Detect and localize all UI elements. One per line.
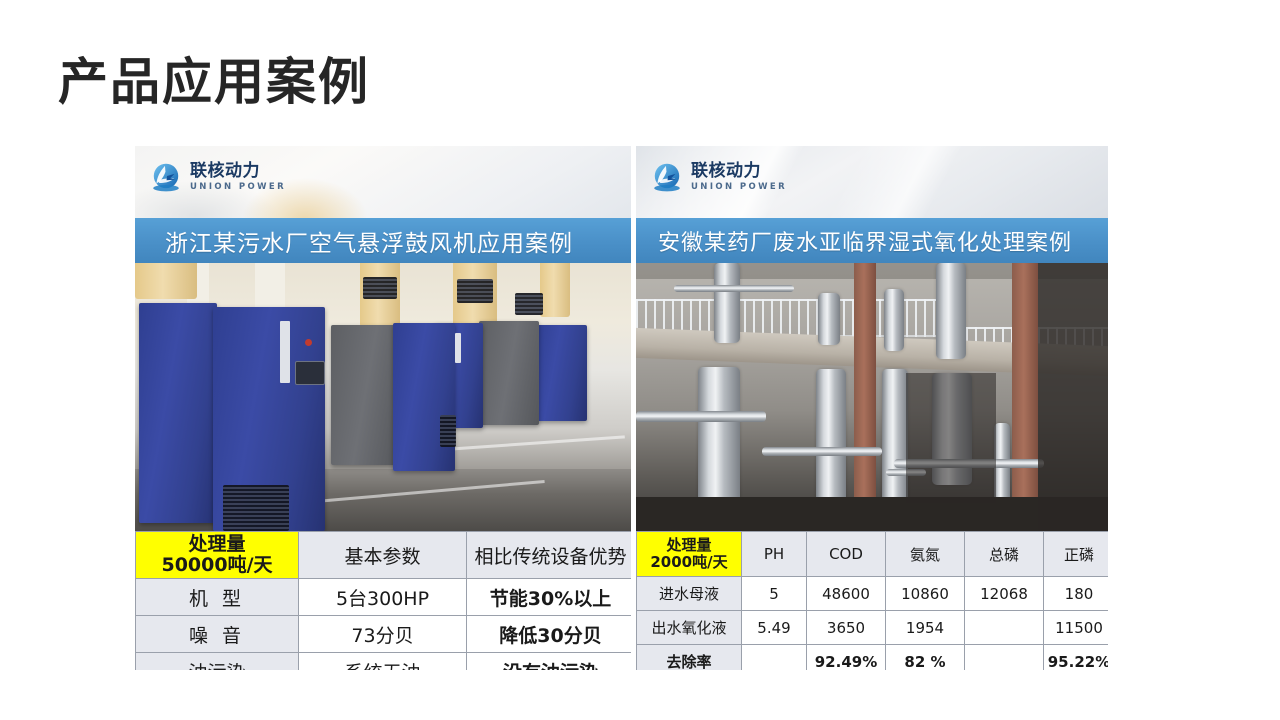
reactor-column <box>816 369 846 509</box>
table-cell-removal-rate <box>965 645 1044 671</box>
table-cell-value: 180 <box>1044 577 1109 611</box>
table-column-header: 总磷 <box>965 532 1044 577</box>
table-cell-value: 5 <box>742 577 807 611</box>
table-cell-advantage: 没有油污染 <box>467 653 632 671</box>
process-pipe <box>636 411 766 422</box>
table-row: 去除率 92.49% 82 % 95.22% <box>637 645 1109 671</box>
table-cell-value: 系统无油 <box>299 653 467 671</box>
table-cell-removal-rate: 82 % <box>886 645 965 671</box>
duct-vent <box>457 279 493 303</box>
table-row: 机 型 5台300HP 节能30%以上 <box>136 579 632 616</box>
structural-column <box>1012 263 1038 531</box>
blower-unit-front-side <box>139 303 217 523</box>
table-cell-value: 73分贝 <box>299 616 467 653</box>
table-row: 进水母液 5 48600 10860 12068 180 <box>637 577 1109 611</box>
blower-control-panel <box>295 361 325 385</box>
table-column-header: 相比传统设备优势 <box>467 532 632 579</box>
table-row-label: 去除率 <box>637 645 742 671</box>
table-corner-cell: 处理量 2000吨/天 <box>637 532 742 577</box>
table-header-row: 处理量 50000吨/天 基本参数 相比传统设备优势 <box>136 532 632 579</box>
ceiling-duct <box>540 263 570 317</box>
reactor-column <box>698 367 740 517</box>
case-photo-right: 联核动力 UNION POWER 安徽某药厂废水亚临界湿式氧化处理案例 <box>636 146 1108 531</box>
page-title: 产品应用案例 <box>58 55 370 110</box>
case-panel-left: 联核动力 UNION POWER 浙江某污水厂空气悬浮鼓风机应用案例 <box>135 146 631 670</box>
table-row-label: 油污染 <box>136 653 299 671</box>
process-column <box>936 263 966 359</box>
slide-root: 产品应用案例 联核动力 <box>0 0 1280 720</box>
table-row-label: 噪 音 <box>136 616 299 653</box>
blower-front-grille <box>223 485 289 531</box>
case-banner-right: 安徽某药厂废水亚临界湿式氧化处理案例 <box>636 218 1108 263</box>
case-table-right: 处理量 2000吨/天 PH COD 氨氮 总磷 正磷 进水母液 5 48600… <box>636 531 1108 670</box>
table-cell-value: 3650 <box>807 611 886 645</box>
table-row: 油污染 系统无油 没有油污染 <box>136 653 632 671</box>
corner-line-1: 处理量 <box>637 537 741 554</box>
blower-unit-mid <box>331 325 399 465</box>
table-row: 出水氧化液 5.49 3650 1954 11500 <box>637 611 1109 645</box>
brand-logo-right: 联核动力 UNION POWER <box>650 160 787 194</box>
case-photo-body-left <box>135 263 631 531</box>
blower-vent <box>440 415 456 447</box>
union-power-logo-icon <box>650 160 684 194</box>
corner-line-2: 2000吨/天 <box>637 554 741 571</box>
brand-logo-text-right: 联核动力 UNION POWER <box>691 163 787 192</box>
process-column <box>884 289 904 351</box>
interior-shadow <box>1038 263 1108 531</box>
case-table-left: 处理量 50000吨/天 基本参数 相比传统设备优势 机 型 5台300HP 节… <box>135 531 631 670</box>
plant-room-scene <box>135 263 631 531</box>
table-column-header: 氨氮 <box>886 532 965 577</box>
table-cell-value <box>742 645 807 671</box>
blower-indicator-light <box>305 339 312 346</box>
table-cell-advantage: 降低30分贝 <box>467 616 632 653</box>
brand-name-cn: 联核动力 <box>190 163 286 180</box>
structural-column <box>854 263 876 531</box>
table-row-label: 机 型 <box>136 579 299 616</box>
floor-highlight <box>435 435 625 451</box>
table-corner-cell: 处理量 50000吨/天 <box>136 532 299 579</box>
table-cell-value: 12068 <box>965 577 1044 611</box>
duct-vent <box>363 277 397 299</box>
ceiling-duct <box>135 263 197 299</box>
corner-line-2: 50000吨/天 <box>136 555 298 576</box>
table-cell-value <box>965 611 1044 645</box>
table-cell-advantage: 节能30%以上 <box>467 579 632 616</box>
case-banner-left: 浙江某污水厂空气悬浮鼓风机应用案例 <box>135 218 631 263</box>
process-pipe <box>674 285 794 292</box>
table-cell-value: 1954 <box>886 611 965 645</box>
blower-label-strip <box>280 321 290 383</box>
interior-shadow <box>906 373 996 503</box>
table-cell-value: 10860 <box>886 577 965 611</box>
brand-logo-left: 联核动力 UNION POWER <box>149 160 286 194</box>
case-panel-right: 联核动力 UNION POWER 安徽某药厂废水亚临界湿式氧化处理案例 <box>636 146 1108 670</box>
table-cell-value: 48600 <box>807 577 886 611</box>
table-header-row: 处理量 2000吨/天 PH COD 氨氮 总磷 正磷 <box>637 532 1109 577</box>
union-power-logo-icon <box>149 160 183 194</box>
table-column-header: COD <box>807 532 886 577</box>
table-column-header: 基本参数 <box>299 532 467 579</box>
process-column <box>714 263 740 343</box>
table-cell-removal-rate: 95.22% <box>1044 645 1109 671</box>
blower-label-strip <box>455 333 461 363</box>
blower-unit-far <box>535 325 587 421</box>
oxidation-plant-scene <box>636 263 1108 531</box>
brand-name-en: UNION POWER <box>190 183 286 192</box>
table-cell-value: 5.49 <box>742 611 807 645</box>
brand-name-en: UNION POWER <box>691 183 787 192</box>
table-cell-removal-rate: 92.49% <box>807 645 886 671</box>
process-column <box>818 293 840 345</box>
brand-logo-text-left: 联核动力 UNION POWER <box>190 163 286 192</box>
table-cell-value: 5台300HP <box>299 579 467 616</box>
table-row: 噪 音 73分贝 降低30分贝 <box>136 616 632 653</box>
table-row-label: 出水氧化液 <box>637 611 742 645</box>
table-column-header: PH <box>742 532 807 577</box>
table-row-label: 进水母液 <box>637 577 742 611</box>
case-banner-title-right: 安徽某药厂废水亚临界湿式氧化处理案例 <box>636 225 1072 257</box>
case-banner-title-left: 浙江某污水厂空气悬浮鼓风机应用案例 <box>135 224 573 258</box>
brand-name-cn: 联核动力 <box>691 163 787 180</box>
case-photo-body-right <box>636 263 1108 531</box>
table-cell-value: 11500 <box>1044 611 1109 645</box>
blower-unit-mid <box>393 323 455 471</box>
case-photo-left: 联核动力 UNION POWER 浙江某污水厂空气悬浮鼓风机应用案例 <box>135 146 631 531</box>
corner-line-1: 处理量 <box>136 534 298 555</box>
blower-unit-far <box>479 321 539 425</box>
table-column-header: 正磷 <box>1044 532 1109 577</box>
reactor-column <box>882 369 908 507</box>
process-pipe <box>762 447 882 456</box>
duct-vent <box>515 293 543 315</box>
